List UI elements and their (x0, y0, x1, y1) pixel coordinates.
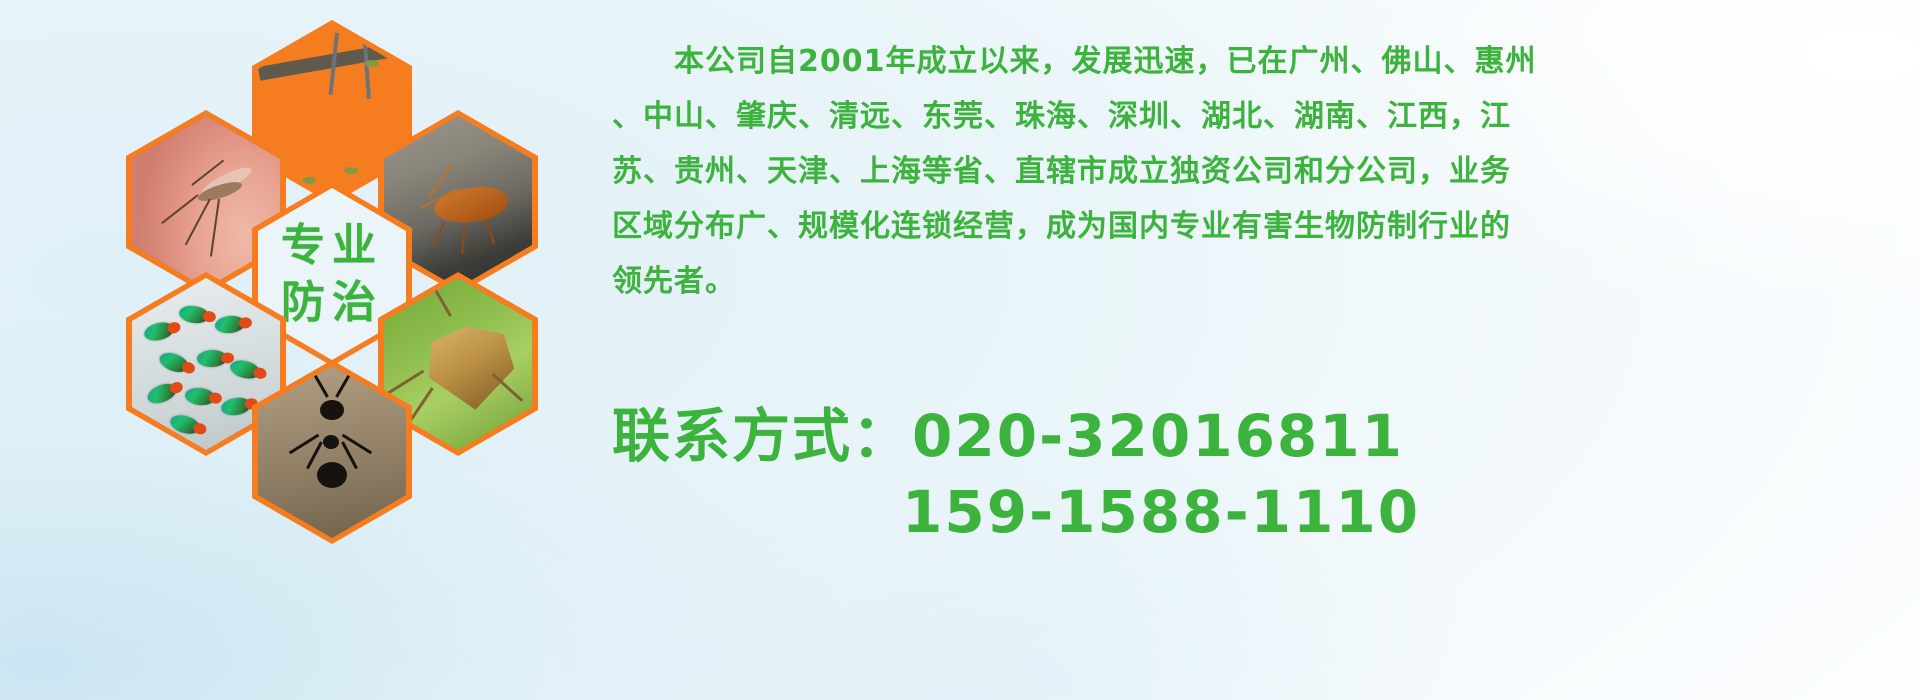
brand-slogan-line1: 专业 (281, 221, 383, 270)
fly-icon (220, 396, 252, 418)
fly-icon (184, 387, 216, 407)
leaf-speck (302, 177, 316, 184)
contact-phone-landline[interactable]: 联系方式：020-32016811 (612, 398, 1912, 474)
intro-line-text: 区域分布广、规模化连锁经营，成为国内专业有害生物防制行业的 (612, 209, 1511, 244)
fly-icon (197, 350, 228, 368)
cockroach-leg (433, 222, 445, 247)
intro-line: 苏、贵州、天津、上海等省、直辖市成立独资公司和分公司，业务 (612, 144, 1912, 199)
cockroach-body-icon (432, 183, 510, 227)
intro-line-text: 领先者。 (612, 264, 736, 299)
intro-line: 区域分布广、规模化连锁经营，成为国内专业有害生物防制行业的 (612, 199, 1912, 254)
mosquito-leg (185, 198, 211, 245)
promo-banner: 专业 防治 (0, 0, 1920, 700)
bug-leg (388, 370, 425, 395)
honeycomb-gallery: 专业 防治 (80, 0, 600, 580)
intro-line: 领先者。 (612, 254, 1912, 309)
contact-phone-mobile[interactable]: 159-1588-1110 (612, 474, 1912, 550)
mosquito-leg (161, 194, 198, 224)
ant-photo (258, 366, 406, 538)
cockroach-leg (485, 219, 495, 244)
ant-antenna (335, 374, 351, 398)
fly-icon (214, 314, 246, 334)
intro-line: 本公司自2001年成立以来，发展迅速，已在广州、佛山、惠州 (612, 34, 1912, 89)
fly-icon (145, 380, 179, 407)
contact-block: 联系方式：020-32016811 159-1588-1110 (612, 398, 1912, 550)
bug-antenna (432, 286, 452, 317)
fly-icon (142, 319, 175, 343)
intro-line-text: 本公司自2001年成立以来，发展迅速，已在广州、佛山、惠州 (674, 44, 1537, 79)
mosquito-leg (210, 198, 220, 256)
fly-icon (228, 357, 261, 381)
ant-head (320, 400, 344, 420)
stink-bug-body-icon (424, 322, 518, 415)
company-intro-paragraph: 本公司自2001年成立以来，发展迅速，已在广州、佛山、惠州 、中山、肇庆、清远、… (612, 34, 1912, 309)
ant-antenna (313, 374, 329, 398)
hex-inner (258, 366, 406, 538)
ant-leg (306, 441, 323, 469)
brand-slogan: 专业 防治 (281, 221, 383, 328)
fly-icon (169, 412, 203, 437)
cockroach-leg (461, 226, 466, 254)
fly-icon (157, 349, 191, 375)
fly-icon (178, 304, 210, 325)
intro-line: 、中山、肇庆、清远、东莞、珠海、深圳、湖北、湖南、江西，江 (612, 89, 1912, 144)
leaf-speck (344, 167, 358, 174)
ant-thorax (323, 435, 339, 449)
intro-line-text: 、中山、肇庆、清远、东莞、珠海、深圳、湖北、湖南、江西，江 (612, 99, 1511, 134)
brand-slogan-line2: 防治 (281, 278, 383, 327)
ant-abdomen (317, 462, 347, 488)
intro-line-text: 苏、贵州、天津、上海等省、直辖市成立独资公司和分公司，业务 (612, 154, 1511, 189)
